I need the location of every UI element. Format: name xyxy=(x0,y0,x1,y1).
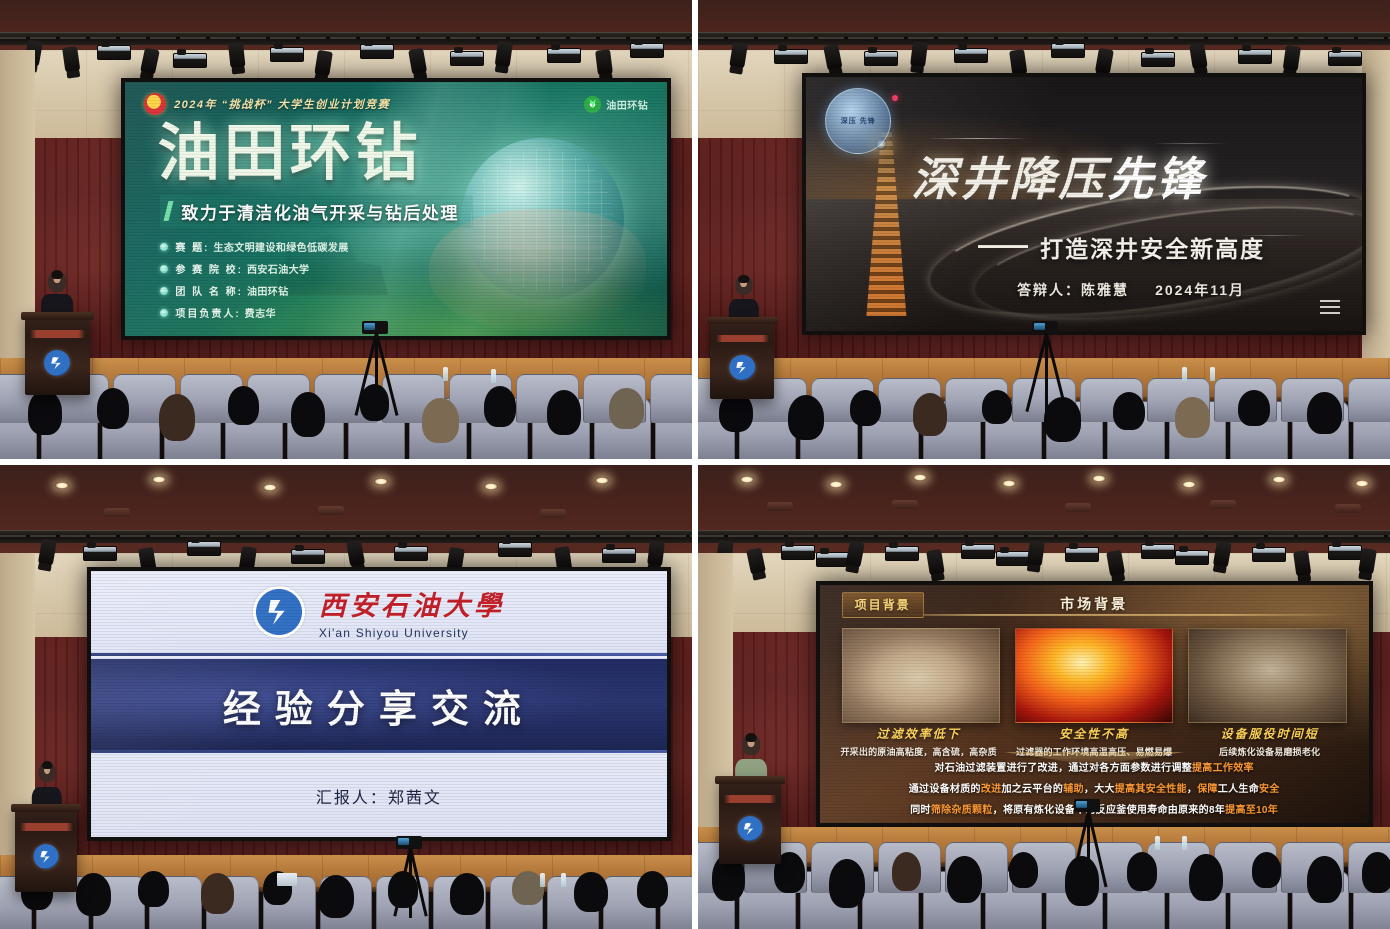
spotlight-icon xyxy=(37,538,56,566)
water-bottle xyxy=(540,873,545,887)
seat xyxy=(1348,378,1390,422)
audience-head xyxy=(291,392,326,436)
spotlight-icon xyxy=(1009,49,1027,77)
presentation-screen-1: 2024年 “挑战杯” 大学生创业计划竞赛 油田环钻 油田环钻 致力于清洁化油气… xyxy=(121,78,671,340)
downlight-icon xyxy=(829,481,843,488)
bullet-key: 项目负责人: xyxy=(175,305,240,320)
speaker-hair xyxy=(42,761,53,769)
audience-head xyxy=(1307,392,1342,434)
spotlight-icon xyxy=(140,47,160,76)
spotlight-icon xyxy=(346,539,365,567)
camera-tripod xyxy=(360,321,390,422)
spotlight-icon xyxy=(495,41,513,69)
water-bottle xyxy=(1182,367,1187,381)
spotlight-icon xyxy=(823,43,843,71)
slide-4-background: 市场背景 项目背景 xyxy=(820,585,1369,823)
list-item: 参 赛 院 校: 西安石油大学 xyxy=(160,261,348,276)
spotlight-icon xyxy=(845,540,865,568)
ceiling-vent xyxy=(892,500,918,509)
caption-title: 过滤效率低下 xyxy=(836,725,1001,742)
slide-1-background: 2024年 “挑战杯” 大学生创业计划竞赛 油田环钻 油田环钻 致力于清洁化油气… xyxy=(125,82,667,336)
presenter-label: 汇报人：郑茜文 xyxy=(316,784,442,808)
downlight-icon xyxy=(484,483,498,490)
audience-head xyxy=(1362,852,1390,893)
audience-head xyxy=(637,871,669,909)
spotlight-icon xyxy=(1095,47,1114,75)
water-bottle xyxy=(491,369,496,383)
card xyxy=(842,628,1000,723)
water-bottle xyxy=(1182,836,1187,850)
card xyxy=(1188,628,1346,723)
audience-area xyxy=(0,859,692,929)
audience-head xyxy=(228,386,258,424)
audience-head xyxy=(788,395,824,439)
presentation-screen-4: 市场背景 项目背景 xyxy=(816,581,1373,827)
audience-head xyxy=(28,390,63,434)
presentation-date: 2024年11月 xyxy=(1155,280,1245,300)
audience-head xyxy=(201,873,234,913)
slide-3-footer: 汇报人：郑茜文 xyxy=(91,754,668,836)
fresnel-light-icon xyxy=(774,49,808,64)
caption-title: 安全性不高 xyxy=(1012,725,1177,742)
audience-head xyxy=(1113,392,1145,431)
ceiling-vent xyxy=(1065,503,1091,512)
crude-oil-sand-in-hand-image xyxy=(842,628,1000,723)
university-emblem-icon xyxy=(730,355,755,380)
panel-1: 2024年 “挑战杯” 大学生创业计划竞赛 油田环钻 油田环钻 致力于清洁化油气… xyxy=(0,0,695,462)
spotlight-icon xyxy=(1106,549,1125,577)
podium-university-label xyxy=(724,795,776,803)
slide-2-meta: 答辩人：陈雅慧 2024年11月 xyxy=(1017,280,1245,300)
fresnel-light-icon xyxy=(360,44,394,59)
wall-right xyxy=(1362,50,1390,358)
auditorium-scene-1: 2024年 “挑战杯” 大学生创业计划竞赛 油田环钻 油田环钻 致力于清洁化油气… xyxy=(0,0,692,459)
bullet-dot-icon xyxy=(160,243,168,251)
fresnel-light-icon xyxy=(450,51,484,66)
fresnel-light-icon xyxy=(270,47,304,62)
water-bottle xyxy=(1155,836,1160,850)
fresnel-light-icon xyxy=(1328,545,1362,560)
competition-banner: 2024年 “挑战杯” 大学生创业计划竞赛 xyxy=(174,96,390,112)
red-indicator-dot xyxy=(892,95,898,101)
spotlight-icon xyxy=(1283,45,1301,73)
spotlight-icon xyxy=(729,42,748,70)
spotlight-icon xyxy=(595,49,613,77)
ceiling-vent xyxy=(318,506,344,515)
caption-desc: 开采出的原油高粘度，高含硫，高杂质 xyxy=(836,745,1001,758)
spotlight-icon xyxy=(314,50,333,78)
audience-head xyxy=(1252,852,1281,888)
fresnel-light-icon xyxy=(864,51,898,66)
slide-3-title: 经验分享交流 xyxy=(223,678,535,733)
audience-head xyxy=(547,390,582,434)
list-item: 赛 题: 生态文明建设和绿色低碳发展 xyxy=(160,239,348,254)
fresnel-light-icon xyxy=(1238,49,1272,64)
spotlight-icon xyxy=(909,41,927,69)
hamburger-menu-icon xyxy=(1320,300,1340,318)
downlight-icon xyxy=(152,476,166,483)
audience-head xyxy=(829,859,865,908)
audience-head xyxy=(422,398,459,442)
podium-university-label xyxy=(716,335,770,342)
podium xyxy=(25,312,90,395)
industrial-fire-flame-image xyxy=(1015,628,1173,723)
fresnel-light-icon xyxy=(498,542,532,557)
slide-2-title-part1: 深井降压 xyxy=(911,153,1107,205)
slide-2: 深压 先锋 深井降压先锋 打造深井安全新高度 答辩人：陈雅慧 2024年1 xyxy=(806,77,1362,331)
audience-head xyxy=(982,390,1012,425)
bullet-value: 西安石油大学 xyxy=(247,261,309,276)
panel-2: 深压 先锋 深井降压先锋 打造深井安全新高度 答辩人：陈雅慧 2024年1 xyxy=(695,0,1390,462)
card xyxy=(1015,628,1173,723)
audience-head xyxy=(913,393,948,435)
university-emblem-icon xyxy=(737,816,762,841)
divider-top xyxy=(91,653,668,656)
ceiling-vent xyxy=(104,508,130,517)
ceiling-vent xyxy=(540,509,566,518)
podium-university-label xyxy=(20,823,72,831)
podium-top xyxy=(11,804,81,812)
spotlight-icon xyxy=(1213,540,1232,568)
downlight-icon xyxy=(1272,476,1286,483)
bullet-value: 费志华 xyxy=(245,305,276,320)
camera-tripod xyxy=(1030,321,1060,417)
slide-1-title: 油田环钻 xyxy=(158,123,422,185)
downlight-icon xyxy=(740,476,754,483)
badge-text: 深压 先锋 xyxy=(841,116,876,126)
audience-head xyxy=(138,871,168,907)
caption-title: 设备服役时间短 xyxy=(1187,725,1352,742)
seat xyxy=(650,374,692,422)
fresnel-light-icon xyxy=(816,552,850,567)
speaker-hair xyxy=(52,270,63,279)
caption-desc: 后续炼化设备易磨损老化 xyxy=(1187,745,1352,758)
bullet-value: 生态文明建设和绿色低碳发展 xyxy=(213,239,348,254)
audience-head xyxy=(574,872,607,912)
audience-head xyxy=(609,388,644,428)
presentation-screen-3: 西安石油大學 Xi'an Shiyou University 经验分享交流 汇报… xyxy=(87,567,672,841)
fresnel-light-icon xyxy=(961,544,995,559)
bullet-dot-icon xyxy=(160,309,168,317)
speaker-head xyxy=(735,275,752,295)
camera-tripod xyxy=(394,836,424,920)
slide-1-subtitle: 致力于清洁化油气开采与钻后处理 xyxy=(181,199,459,224)
divider-bottom xyxy=(91,750,668,753)
laptop xyxy=(277,873,297,886)
fresnel-light-icon xyxy=(602,548,636,563)
university-name-block: 西安石油大學 Xi'an Shiyou University xyxy=(319,584,505,640)
downlight-icon xyxy=(1092,475,1106,482)
podium-top xyxy=(715,776,785,784)
university-seal-icon xyxy=(253,586,305,638)
ceiling-vent xyxy=(767,502,793,511)
slide-1-header: 2024年 “挑战杯” 大学生创业计划竞赛 油田环钻 xyxy=(144,93,648,115)
fresnel-light-icon xyxy=(1175,550,1209,565)
downlight-icon xyxy=(1355,480,1369,487)
fresnel-light-icon xyxy=(187,541,221,556)
podium-university-label xyxy=(30,330,85,337)
section-tab-label: 项目背景 xyxy=(855,598,911,612)
slide-3-header: 西安石油大學 Xi'an Shiyou University xyxy=(91,571,668,653)
slide-2-subtitle: 打造深井安全新高度 xyxy=(1040,230,1265,264)
list-item: 团 队 名 称: 油田环钻 xyxy=(160,283,348,298)
podium xyxy=(719,776,781,864)
audience-head xyxy=(1127,852,1157,890)
fresnel-light-icon xyxy=(83,546,117,561)
caption-block: 过滤效率低下 开采出的原油高粘度，高含硫，高杂质 xyxy=(836,725,1001,758)
light-streak xyxy=(928,138,1028,139)
audience-head xyxy=(159,394,195,440)
em-dash-rule xyxy=(978,245,1028,248)
team-logo-text: 油田环钻 xyxy=(606,97,648,112)
camera-tripod xyxy=(1072,799,1102,892)
downlight-icon xyxy=(1182,481,1196,488)
slide-3: 西安石油大學 Xi'an Shiyou University 经验分享交流 汇报… xyxy=(91,571,668,837)
speaker-head xyxy=(742,734,760,755)
subtitle-accent-bar xyxy=(164,201,174,221)
project-badge: 深压 先锋 xyxy=(825,88,891,154)
slide-1: 2024年 “挑战杯” 大学生创业计划竞赛 油田环钻 油田环钻 致力于清洁化油气… xyxy=(125,82,667,336)
water-bottle xyxy=(1210,367,1215,381)
university-name-en: Xi'an Shiyou University xyxy=(319,626,505,640)
downlight-icon xyxy=(913,474,927,481)
slide-4-header: 市场背景 项目背景 xyxy=(820,592,1369,623)
list-item: 项目负责人: 费志华 xyxy=(160,305,348,320)
presenter-label: 答辩人：陈雅慧 xyxy=(1017,280,1129,300)
water-bottle xyxy=(443,367,448,381)
downlight-icon xyxy=(263,484,277,491)
slide-3-band: 经验分享交流 xyxy=(91,659,668,752)
university-name-cn: 西安石油大學 xyxy=(319,584,505,623)
section-tab: 项目背景 xyxy=(842,592,924,618)
fresnel-light-icon xyxy=(1252,547,1286,562)
auditorium-scene-3: 西安石油大學 Xi'an Shiyou University 经验分享交流 汇报… xyxy=(0,465,692,929)
university-emblem-icon xyxy=(34,844,59,869)
auditorium-scene-2: 深压 先锋 深井降压先锋 打造深井安全新高度 答辩人：陈雅慧 2024年1 xyxy=(698,0,1390,459)
podium xyxy=(710,317,774,400)
speaker-head xyxy=(39,762,56,782)
spotlight-icon xyxy=(228,42,246,69)
green-leaf-circle-logo-icon xyxy=(584,96,601,113)
fresnel-light-icon xyxy=(97,45,131,60)
caption-block: 设备服役时间短 后续炼化设备易磨损老化 xyxy=(1187,725,1352,758)
fresnel-light-icon xyxy=(1051,43,1085,58)
spotlight-icon xyxy=(1293,550,1311,578)
ceiling-vent xyxy=(1210,500,1236,509)
fresnel-light-icon xyxy=(996,551,1030,566)
podium xyxy=(15,804,77,892)
audience-area xyxy=(698,822,1390,929)
podium-top xyxy=(21,312,94,319)
summary-line: 通过设备材质的改进加之云平台的辅助，大大提高其安全性能，保障工人生命安全 xyxy=(836,784,1352,796)
university-emblem-icon xyxy=(44,350,70,376)
audience-head xyxy=(97,388,129,428)
fresnel-light-icon xyxy=(954,48,988,63)
audience-area xyxy=(0,358,692,459)
spotlight-icon xyxy=(1358,547,1377,575)
slide-4-image-row xyxy=(842,628,1347,723)
fresnel-light-icon xyxy=(1065,547,1099,562)
slide-2-title-part2: 先锋 xyxy=(1107,153,1205,205)
slide-4: 市场背景 项目背景 xyxy=(820,585,1369,823)
photo-collage: 2024年 “挑战杯” 大学生创业计划竞赛 油田环钻 油田环钻 致力于清洁化油气… xyxy=(0,0,1390,929)
auditorium-scene-4: 市场背景 项目背景 xyxy=(698,465,1390,929)
fresnel-light-icon xyxy=(394,546,428,561)
slide-1-subtitle-wrap: 致力于清洁化油气开采与钻后处理 xyxy=(160,195,473,228)
slide-2-subtitle-row: 打造深井安全新高度 xyxy=(978,230,1265,264)
youth-league-emblem-icon xyxy=(144,93,166,115)
audience-head xyxy=(1175,397,1210,437)
light-streak xyxy=(1151,143,1229,144)
bullet-dot-icon xyxy=(160,265,168,273)
speaker-hair xyxy=(746,733,757,742)
spotlight-icon xyxy=(1189,43,1208,71)
spotlight-icon xyxy=(408,47,427,75)
slide-2-title: 深井降压先锋 xyxy=(911,156,1205,202)
panel-4: 市场背景 项目背景 xyxy=(695,462,1390,929)
header-rule xyxy=(864,614,1347,616)
fresnel-light-icon xyxy=(1141,52,1175,67)
slide-1-bullets: 赛 题: 生态文明建设和绿色低碳发展 参 赛 院 校: 西安石油大学 团 队 xyxy=(160,239,348,327)
podium-top xyxy=(707,317,778,324)
audience-head xyxy=(1238,390,1270,427)
audience-head xyxy=(1189,854,1222,901)
fresnel-light-icon xyxy=(1328,51,1362,66)
panel-3: 西安石油大學 Xi'an Shiyou University 经验分享交流 汇报… xyxy=(0,462,695,929)
audience-head xyxy=(318,875,354,918)
fresnel-light-icon xyxy=(1141,544,1175,559)
audience-head xyxy=(450,873,485,915)
fresnel-light-icon xyxy=(547,48,581,63)
bullet-value: 油田环钻 xyxy=(247,283,289,298)
audience-head xyxy=(892,852,921,890)
speaker-head xyxy=(49,271,67,292)
water-bottle xyxy=(561,873,566,887)
bullet-key: 赛 题: xyxy=(175,239,209,254)
presentation-screen-2: 深压 先锋 深井降压先锋 打造深井安全新高度 答辩人：陈雅慧 2024年1 xyxy=(802,73,1366,335)
spotlight-icon xyxy=(1027,540,1045,568)
downlight-icon xyxy=(1002,480,1016,487)
spotlight-icon xyxy=(62,46,80,74)
corroded-equipment-bolts-image xyxy=(1188,628,1346,723)
bullet-key: 参 赛 院 校: xyxy=(175,261,243,276)
slide-2-background: 深压 先锋 深井降压先锋 打造深井安全新高度 答辩人：陈雅慧 2024年1 xyxy=(806,77,1362,331)
fresnel-light-icon xyxy=(630,43,664,58)
audience-head xyxy=(947,856,982,903)
bullet-key: 团 队 名 称: xyxy=(175,283,243,298)
team-logo: 油田环钻 xyxy=(584,96,648,113)
audience-head xyxy=(1009,852,1038,888)
fresnel-light-icon xyxy=(173,53,207,68)
audience-head xyxy=(850,390,880,427)
spotlight-icon xyxy=(747,547,767,576)
ceiling-vent xyxy=(1335,504,1361,513)
spotlight-icon xyxy=(647,540,665,568)
fresnel-light-icon xyxy=(291,549,325,564)
audience-head xyxy=(484,386,516,426)
fresnel-light-icon xyxy=(885,546,919,561)
spotlight-icon xyxy=(926,548,945,576)
downlight-icon xyxy=(374,478,388,485)
slide-3-background: 西安石油大學 Xi'an Shiyou University 经验分享交流 汇报… xyxy=(91,571,668,837)
audience-head xyxy=(1307,856,1342,903)
audience-head xyxy=(76,873,111,916)
bullet-dot-icon xyxy=(160,287,168,295)
downlight-icon xyxy=(55,482,69,489)
summary-line: 对石油过滤装置进行了改进，通过对各方面参数进行调整提高工作效率 xyxy=(836,763,1352,775)
downlight-icon xyxy=(595,477,609,484)
speaker-hair xyxy=(738,275,749,283)
fresnel-light-icon xyxy=(781,545,815,560)
